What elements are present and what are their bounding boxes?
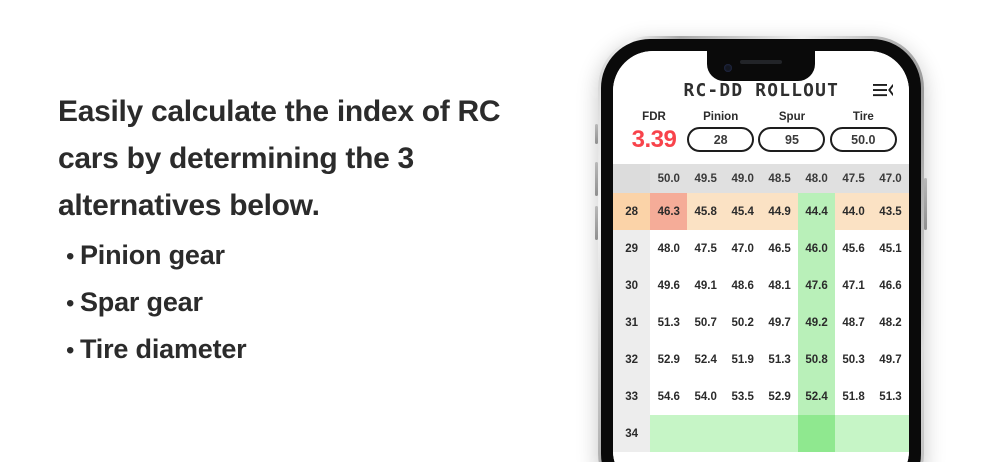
table-cell[interactable]: 51.3 xyxy=(761,341,798,378)
table-cell[interactable] xyxy=(650,415,687,452)
table-cell[interactable]: 46.5 xyxy=(761,230,798,267)
table-cell[interactable]: 49.2 xyxy=(798,304,835,341)
rollout-table: 50.049.549.048.548.047.547.0 2846.345.84… xyxy=(613,164,909,452)
table-row[interactable]: 3049.649.148.648.147.647.146.6 xyxy=(613,267,909,304)
table-row[interactable]: 3354.654.053.552.952.451.851.3 xyxy=(613,378,909,415)
pinion-block: Pinion 28 xyxy=(685,111,756,152)
table-cell[interactable]: 51.3 xyxy=(650,304,687,341)
table-column-header: 48.0 xyxy=(798,164,835,193)
menu-collapse-icon[interactable] xyxy=(873,83,893,98)
table-cell[interactable]: 45.8 xyxy=(687,193,724,230)
phone-mockup: RC-DD ROLLOUT xyxy=(598,36,924,462)
table-cell[interactable]: 44.4 xyxy=(798,193,835,230)
marketing-copy: Easily calculate the index of RC cars by… xyxy=(58,88,558,381)
power-button[interactable] xyxy=(924,178,927,230)
mute-switch[interactable] xyxy=(595,124,598,144)
table-cell[interactable]: 54.6 xyxy=(650,378,687,415)
spur-label: Spur xyxy=(779,111,805,123)
page-title: Easily calculate the index of RC cars by… xyxy=(58,88,558,229)
table-cell[interactable]: 52.9 xyxy=(650,341,687,378)
table-cell[interactable]: 54.0 xyxy=(687,378,724,415)
value-strip: FDR 3.39 Pinion 28 Spur 95 xyxy=(613,105,909,152)
speaker-grille-icon xyxy=(740,60,782,64)
rollout-table-scroll[interactable]: 50.049.549.048.548.047.547.0 2846.345.84… xyxy=(613,152,909,462)
fdr-label: FDR xyxy=(642,111,666,123)
table-row-label: 28 xyxy=(613,193,650,230)
table-header-row: 50.049.549.048.548.047.547.0 xyxy=(613,164,909,193)
list-item-label: Pinion gear xyxy=(80,240,225,271)
table-cell[interactable]: 49.1 xyxy=(687,267,724,304)
table-row[interactable]: 2846.345.845.444.944.444.043.5 xyxy=(613,193,909,230)
table-cell[interactable]: 51.9 xyxy=(724,341,761,378)
bullet-dot-icon: • xyxy=(58,339,80,363)
tire-label: Tire xyxy=(853,111,874,123)
app-content: RC-DD ROLLOUT xyxy=(613,51,909,462)
table-cell[interactable]: 50.2 xyxy=(724,304,761,341)
table-cell[interactable] xyxy=(872,415,909,452)
promo-screenshot: Easily calculate the index of RC cars by… xyxy=(0,0,1000,462)
table-cell[interactable]: 52.4 xyxy=(798,378,835,415)
table-cell[interactable]: 51.3 xyxy=(872,378,909,415)
table-column-header: 47.5 xyxy=(835,164,872,193)
table-column-header: 49.5 xyxy=(687,164,724,193)
table-cell[interactable]: 50.7 xyxy=(687,304,724,341)
table-cell[interactable]: 48.6 xyxy=(724,267,761,304)
table-cell[interactable]: 50.3 xyxy=(835,341,872,378)
phone-frame: RC-DD ROLLOUT xyxy=(598,36,924,462)
table-row[interactable]: 3151.350.750.249.749.248.748.2 xyxy=(613,304,909,341)
table-cell[interactable]: 47.1 xyxy=(835,267,872,304)
table-row-label: 32 xyxy=(613,341,650,378)
table-cell[interactable] xyxy=(687,415,724,452)
table-cell[interactable]: 46.0 xyxy=(798,230,835,267)
table-cell[interactable]: 47.5 xyxy=(687,230,724,267)
table-cell[interactable]: 49.7 xyxy=(872,341,909,378)
table-cell[interactable]: 44.9 xyxy=(761,193,798,230)
table-row-label: 30 xyxy=(613,267,650,304)
table-column-header: 48.5 xyxy=(761,164,798,193)
volume-up-button[interactable] xyxy=(595,162,598,196)
front-camera-icon xyxy=(724,64,732,72)
list-item: • Pinion gear xyxy=(58,240,558,287)
table-cell[interactable]: 45.4 xyxy=(724,193,761,230)
table-cell[interactable] xyxy=(761,415,798,452)
feature-list: • Pinion gear • Spar gear • Tire diamete… xyxy=(58,240,558,381)
spur-block: Spur 95 xyxy=(756,111,827,152)
table-cell[interactable]: 48.7 xyxy=(835,304,872,341)
table-cell[interactable]: 49.6 xyxy=(650,267,687,304)
table-column-header: 50.0 xyxy=(650,164,687,193)
table-cell[interactable]: 46.3 xyxy=(650,193,687,230)
bullet-dot-icon: • xyxy=(58,292,80,316)
phone-screen: RC-DD ROLLOUT xyxy=(613,51,909,462)
table-cell[interactable]: 53.5 xyxy=(724,378,761,415)
table-row-label: 34 xyxy=(613,415,650,452)
list-item-label: Spar gear xyxy=(80,287,203,318)
table-cell[interactable]: 48.1 xyxy=(761,267,798,304)
table-cell[interactable]: 52.9 xyxy=(761,378,798,415)
app-title: RC-DD ROLLOUT xyxy=(683,81,839,101)
fdr-value: 3.39 xyxy=(632,127,677,152)
table-cell[interactable]: 48.0 xyxy=(650,230,687,267)
pinion-label: Pinion xyxy=(703,111,738,123)
table-cell[interactable]: 43.5 xyxy=(872,193,909,230)
table-cell[interactable] xyxy=(798,415,835,452)
table-column-header: 49.0 xyxy=(724,164,761,193)
table-cell[interactable]: 45.1 xyxy=(872,230,909,267)
pinion-input[interactable]: 28 xyxy=(687,127,754,152)
table-cell[interactable]: 51.8 xyxy=(835,378,872,415)
table-cell[interactable]: 50.8 xyxy=(798,341,835,378)
table-row-label: 31 xyxy=(613,304,650,341)
table-cell[interactable]: 49.7 xyxy=(761,304,798,341)
list-item: • Tire diameter xyxy=(58,334,558,381)
table-body: 2846.345.845.444.944.444.043.52948.047.5… xyxy=(613,193,909,452)
table-cell[interactable] xyxy=(724,415,761,452)
table-cell[interactable]: 45.6 xyxy=(835,230,872,267)
list-item-label: Tire diameter xyxy=(80,334,246,365)
table-cell[interactable]: 48.2 xyxy=(872,304,909,341)
table-cell[interactable] xyxy=(835,415,872,452)
table-cell[interactable]: 47.6 xyxy=(798,267,835,304)
phone-bezel: RC-DD ROLLOUT xyxy=(601,39,921,462)
table-cell[interactable]: 52.4 xyxy=(687,341,724,378)
table-row[interactable]: 34 xyxy=(613,415,909,452)
list-item: • Spar gear xyxy=(58,287,558,334)
tire-input[interactable]: 50.0 xyxy=(830,127,897,152)
table-row[interactable]: 3252.952.451.951.350.850.349.7 xyxy=(613,341,909,378)
tire-block: Tire 50.0 xyxy=(828,111,899,152)
table-row-label: 33 xyxy=(613,378,650,415)
notch xyxy=(707,51,815,81)
volume-down-button[interactable] xyxy=(595,206,598,240)
fdr-block: FDR 3.39 xyxy=(623,111,685,152)
table-corner-cell xyxy=(613,164,650,193)
spur-input[interactable]: 95 xyxy=(758,127,825,152)
bullet-dot-icon: • xyxy=(58,245,80,269)
table-cell[interactable]: 46.6 xyxy=(872,267,909,304)
table-row[interactable]: 2948.047.547.046.546.045.645.1 xyxy=(613,230,909,267)
table-header: 50.049.549.048.548.047.547.0 xyxy=(613,164,909,193)
table-cell[interactable]: 44.0 xyxy=(835,193,872,230)
table-cell[interactable]: 47.0 xyxy=(724,230,761,267)
table-row-label: 29 xyxy=(613,230,650,267)
table-column-header: 47.0 xyxy=(872,164,909,193)
